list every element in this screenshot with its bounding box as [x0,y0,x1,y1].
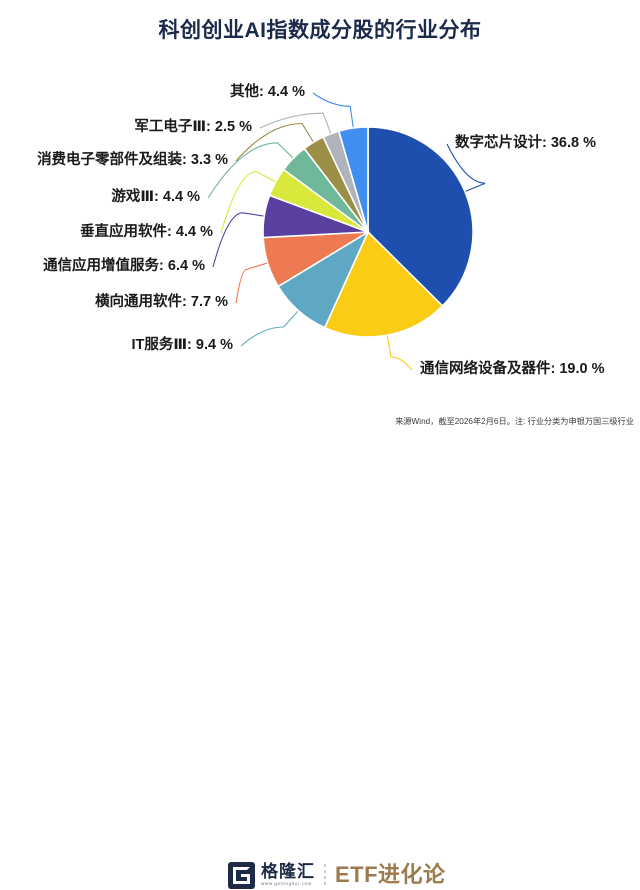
brand-text-block: 格隆汇 www.gelonghui.com [261,863,315,887]
pie-label-8: 消费电子零部件及组装: 3.3 % [37,153,228,168]
gelonghui-g-logo-icon [228,862,255,889]
leader-line [313,93,354,130]
program-name: ETF进化论 [335,864,446,886]
pie-label-4: 横向通用软件: 7.7 % [95,295,228,310]
footer-branding-bar: 格隆汇 www.gelonghui.com ETF进化论 [0,428,640,469]
brand-name: 格隆汇 [261,863,315,880]
pie-label-7: 游戏Ⅲ: 4.4 % [111,190,200,205]
pie-label-10: 其他: 4.4 % [230,85,305,100]
pie-chart-figure: 科创创业AI指数成分股的行业分布 数字芯片设计: 36.8 %通信网络设备及器件… [0,0,640,469]
pie-label-9: 军工电子Ⅲ: 2.5 % [134,120,252,135]
brand-url: www.gelonghui.com [261,882,315,887]
leader-line [213,213,266,267]
source-note: 来源Wind，截至2026年2月6日。注: 行业分类为申银万国三级行业 [395,415,634,427]
brand-logo-group: 格隆汇 www.gelonghui.com ETF进化论 [228,860,446,890]
pie-label-5: 通信应用增值服务: 6.4 % [43,259,205,274]
pie-label-2: 通信网络设备及器件: 19.0 % [420,362,605,377]
pie-label-6: 垂直应用软件: 4.4 % [80,225,213,240]
pie-slices-group [263,127,473,337]
leader-line [236,262,270,303]
leader-line [387,333,412,370]
leader-line [241,309,300,346]
pie-label-3: IT服务Ⅲ: 9.4 % [131,338,233,353]
logo-divider [324,864,326,886]
pie-label-1: 数字芯片设计: 36.8 % [455,136,596,151]
